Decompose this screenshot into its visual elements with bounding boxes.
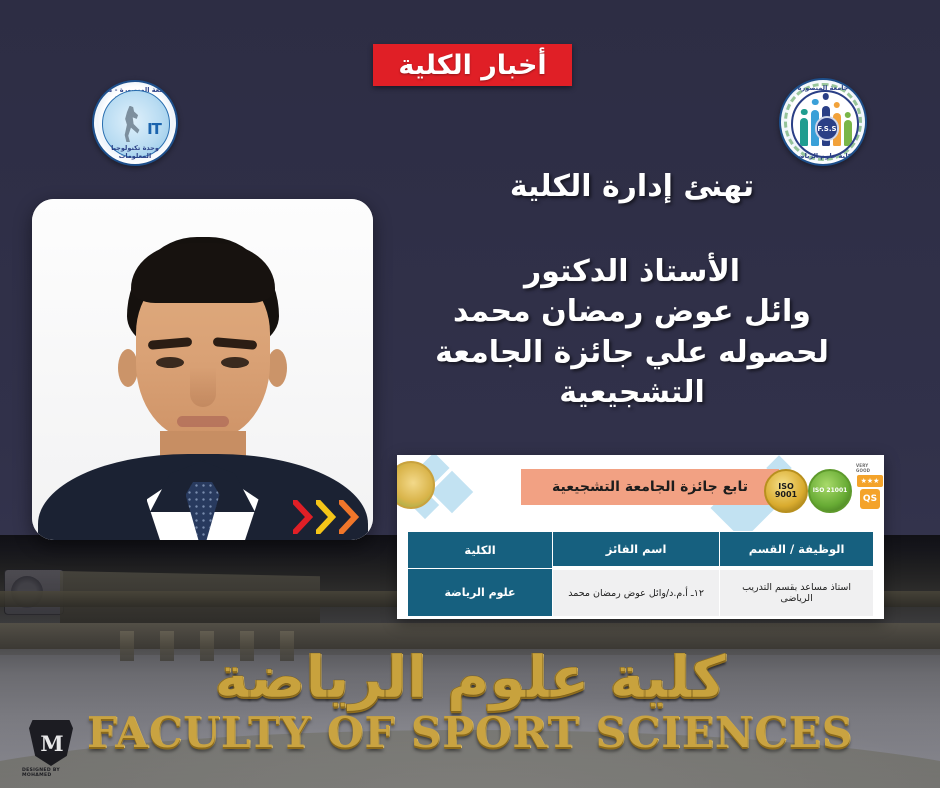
portrait-photo <box>32 199 373 540</box>
cell-faculty: علوم الرياضة <box>408 568 553 617</box>
nose <box>190 367 216 407</box>
column-header-job: الوظيفة / القسم <box>720 532 874 569</box>
logo-center-seal: F.S.S <box>815 116 839 140</box>
watermark-monogram: M <box>29 720 73 766</box>
text-spacer <box>402 206 862 252</box>
mouth <box>177 416 229 427</box>
document-title-band: تابع جائزة الجامعة التشجيعية <box>521 469 779 505</box>
news-banner-label: أخبار الكلية <box>398 52 546 79</box>
iso-21001-seal-icon: ISO 21001 <box>808 469 852 513</box>
runner-icon <box>120 106 142 143</box>
rating-label: VERY GOOD <box>856 463 884 473</box>
chevron-right-icon <box>293 500 313 534</box>
logo-arc-bottom-text: كلية علوم الرياضة <box>781 152 865 160</box>
eye-right <box>221 357 249 368</box>
signage-english: FACULTY OF SPORT SCIENCES <box>0 712 940 754</box>
congratulation-intro: تهنئ إدارة الكلية <box>402 168 862 206</box>
ear-right <box>267 349 287 387</box>
document-header: تابع جائزة الجامعة التشجيعية ISO 9001 IS… <box>397 455 884 526</box>
document-title: تابع جائزة الجامعة التشجيعية <box>552 479 748 495</box>
award-document: تابع جائزة الجامعة التشجيعية ISO 9001 IS… <box>397 455 884 619</box>
news-banner: أخبار الكلية <box>373 44 572 86</box>
congratulation-line-1: الأستاذ الدكتور <box>402 252 862 293</box>
watermark-caption: DESIGNED BY MOHAMED <box>22 768 80 778</box>
congratulation-line-3: لحصوله علي جائزة الجامعة التشجيعية <box>402 333 862 414</box>
cell-winner: ١٢ـ أ.م.د/وائل عوض رمضان محمد <box>553 568 720 617</box>
table-header-row: الوظيفة / القسم اسم الفائز الكلية <box>408 532 874 569</box>
mansoura-sport-sciences-logo: جامعة المنصورة F.S.S كلية علوم الرياضة <box>779 78 867 166</box>
chevron-arrows-decoration <box>293 500 359 534</box>
chevron-right-icon <box>339 500 359 534</box>
column-header-faculty: الكلية <box>408 532 553 569</box>
qs-logo: QS <box>860 489 880 509</box>
quality-rating-badge: VERY GOOD ★★★ QS <box>856 463 884 513</box>
column-header-winner: اسم الفائز <box>553 532 720 569</box>
figure-icon <box>844 120 852 146</box>
cell-job: استاذ مساعد بقسم التدريب الرياضى <box>720 568 874 617</box>
faculty-it-unit-logo: جامعة المنصورة - كلية علوم الرياضة IT وح… <box>92 80 178 166</box>
faculty-news-poster: كلية علوم الرياضة FACULTY OF SPORT SCIEN… <box>0 0 940 788</box>
figure-icon <box>800 118 808 146</box>
iso-9001-seal-icon: ISO 9001 <box>764 469 808 513</box>
rating-stars-icon: ★★★ <box>857 475 883 487</box>
eye-left <box>156 357 184 368</box>
congratulation-line-2: وائل عوض رمضان محمد <box>402 292 862 333</box>
signage-arabic: كلية علوم الرياضة <box>0 648 940 706</box>
chevron-right-icon <box>316 500 336 534</box>
logo-ring: جامعة المنصورة - كلية علوم الرياضة IT وح… <box>92 80 178 166</box>
congratulation-text: تهنئ إدارة الكلية الأستاذ الدكتور وائل ع… <box>402 168 862 414</box>
table-row: استاذ مساعد بقسم التدريب الرياضى ١٢ـ أ.م… <box>408 568 874 617</box>
logo-arc-bottom-text: وحدة تكنولوجيا المعلومات <box>94 144 176 160</box>
designer-watermark-logo: M DESIGNED BY MOHAMED <box>22 718 80 780</box>
logo-ring: جامعة المنصورة F.S.S كلية علوم الرياضة <box>779 78 867 166</box>
award-table: الوظيفة / القسم اسم الفائز الكلية استاذ … <box>407 531 874 617</box>
logo-center-text: IT <box>147 120 161 138</box>
logo-inner-disc: F.S.S <box>791 90 859 158</box>
